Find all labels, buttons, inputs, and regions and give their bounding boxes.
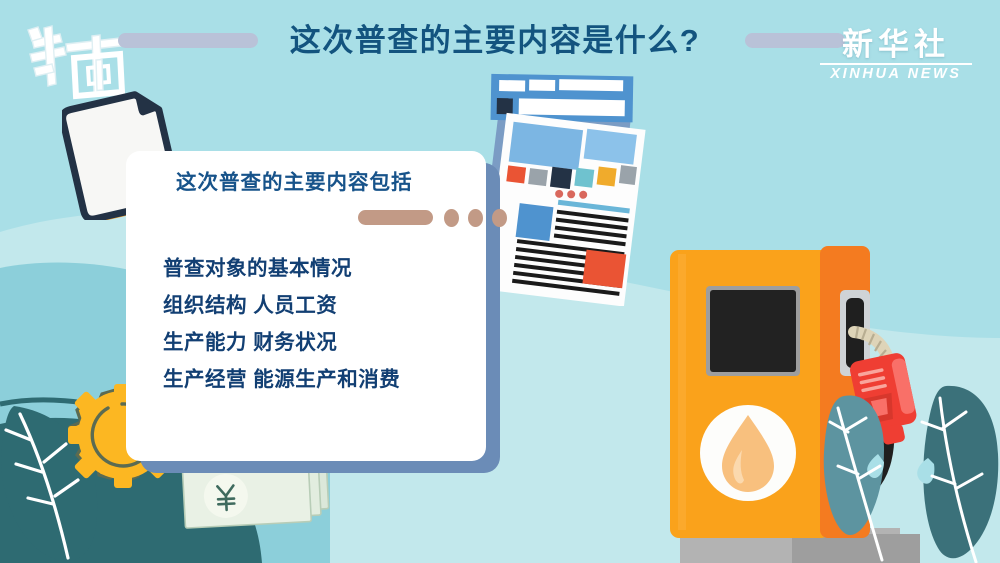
decoration-dot-2 [468,209,483,227]
decoration-dot-3 [492,209,507,227]
content-line: 生产经营 能源生产和消费 [163,361,473,398]
page-title: 这次普查的主要内容是什么? [255,17,735,65]
header-pill-left [118,33,258,48]
decoration-bar [358,210,433,225]
content-line: 生产能力 财务状况 [163,324,473,361]
content-card-list: 普查对象的基本情况 组织结构 人员工资 生产能力 财务状况 生产经营 能源生产和… [163,250,473,398]
xinhua-news-logo: 新华社 XINHUA NEWS [820,28,972,84]
content-card-heading: 这次普查的主要内容包括 [176,165,413,195]
content-line: 组织结构 人员工资 [163,287,473,324]
content-line: 普查对象的基本情况 [163,250,473,287]
leaf-icon-right-group [810,370,1000,563]
xinhua-logo-cn: 新华社 [820,28,972,62]
xinhua-logo-en: XINHUA NEWS [820,63,972,83]
infographic-canvas: 这次普查的主要内容是什么? 新华社 XINHUA NEWS [0,0,1000,563]
decoration-dot-1 [444,209,459,227]
